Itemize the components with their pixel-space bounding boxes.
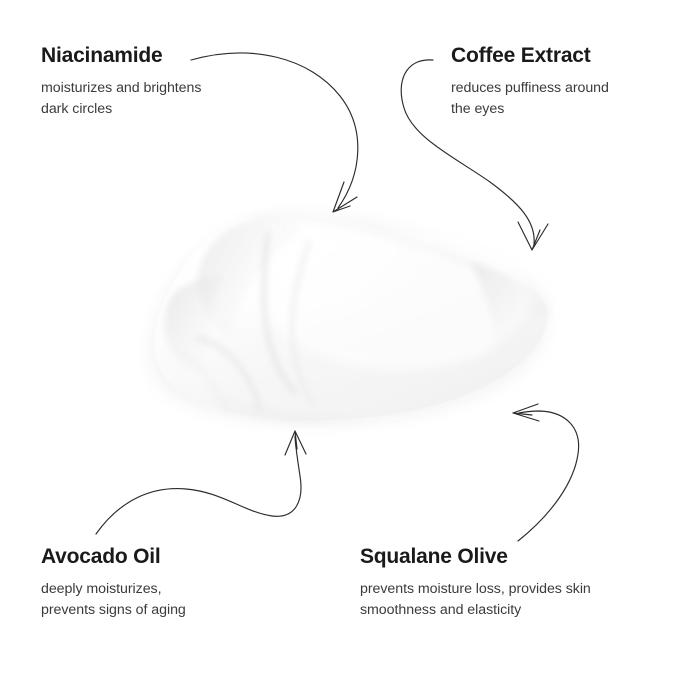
callout-avocado-oil: Avocado Oil deeply moisturizes, prevents… (41, 545, 186, 620)
callout-description-coffee-extract: reduces puffiness around the eyes (451, 78, 609, 119)
callout-title-avocado-oil: Avocado Oil (41, 545, 186, 568)
callout-niacinamide: Niacinamide moisturizes and brightens da… (41, 44, 201, 119)
callout-title-coffee-extract: Coffee Extract (451, 44, 609, 67)
callout-description-squalane-olive: prevents moisture loss, provides skin sm… (360, 579, 591, 620)
callout-description-avocado-oil: deeply moisturizes, prevents signs of ag… (41, 579, 186, 620)
callout-title-niacinamide: Niacinamide (41, 44, 201, 67)
swatch-body (154, 213, 550, 423)
callout-description-niacinamide: moisturizes and brightens dark circles (41, 78, 201, 119)
callout-coffee-extract: Coffee Extract reduces puffiness around … (451, 44, 609, 119)
callout-squalane-olive: Squalane Olive prevents moisture loss, p… (360, 545, 591, 620)
ingredient-infographic: Niacinamide moisturizes and brightens da… (0, 0, 679, 679)
callout-title-squalane-olive: Squalane Olive (360, 545, 591, 568)
